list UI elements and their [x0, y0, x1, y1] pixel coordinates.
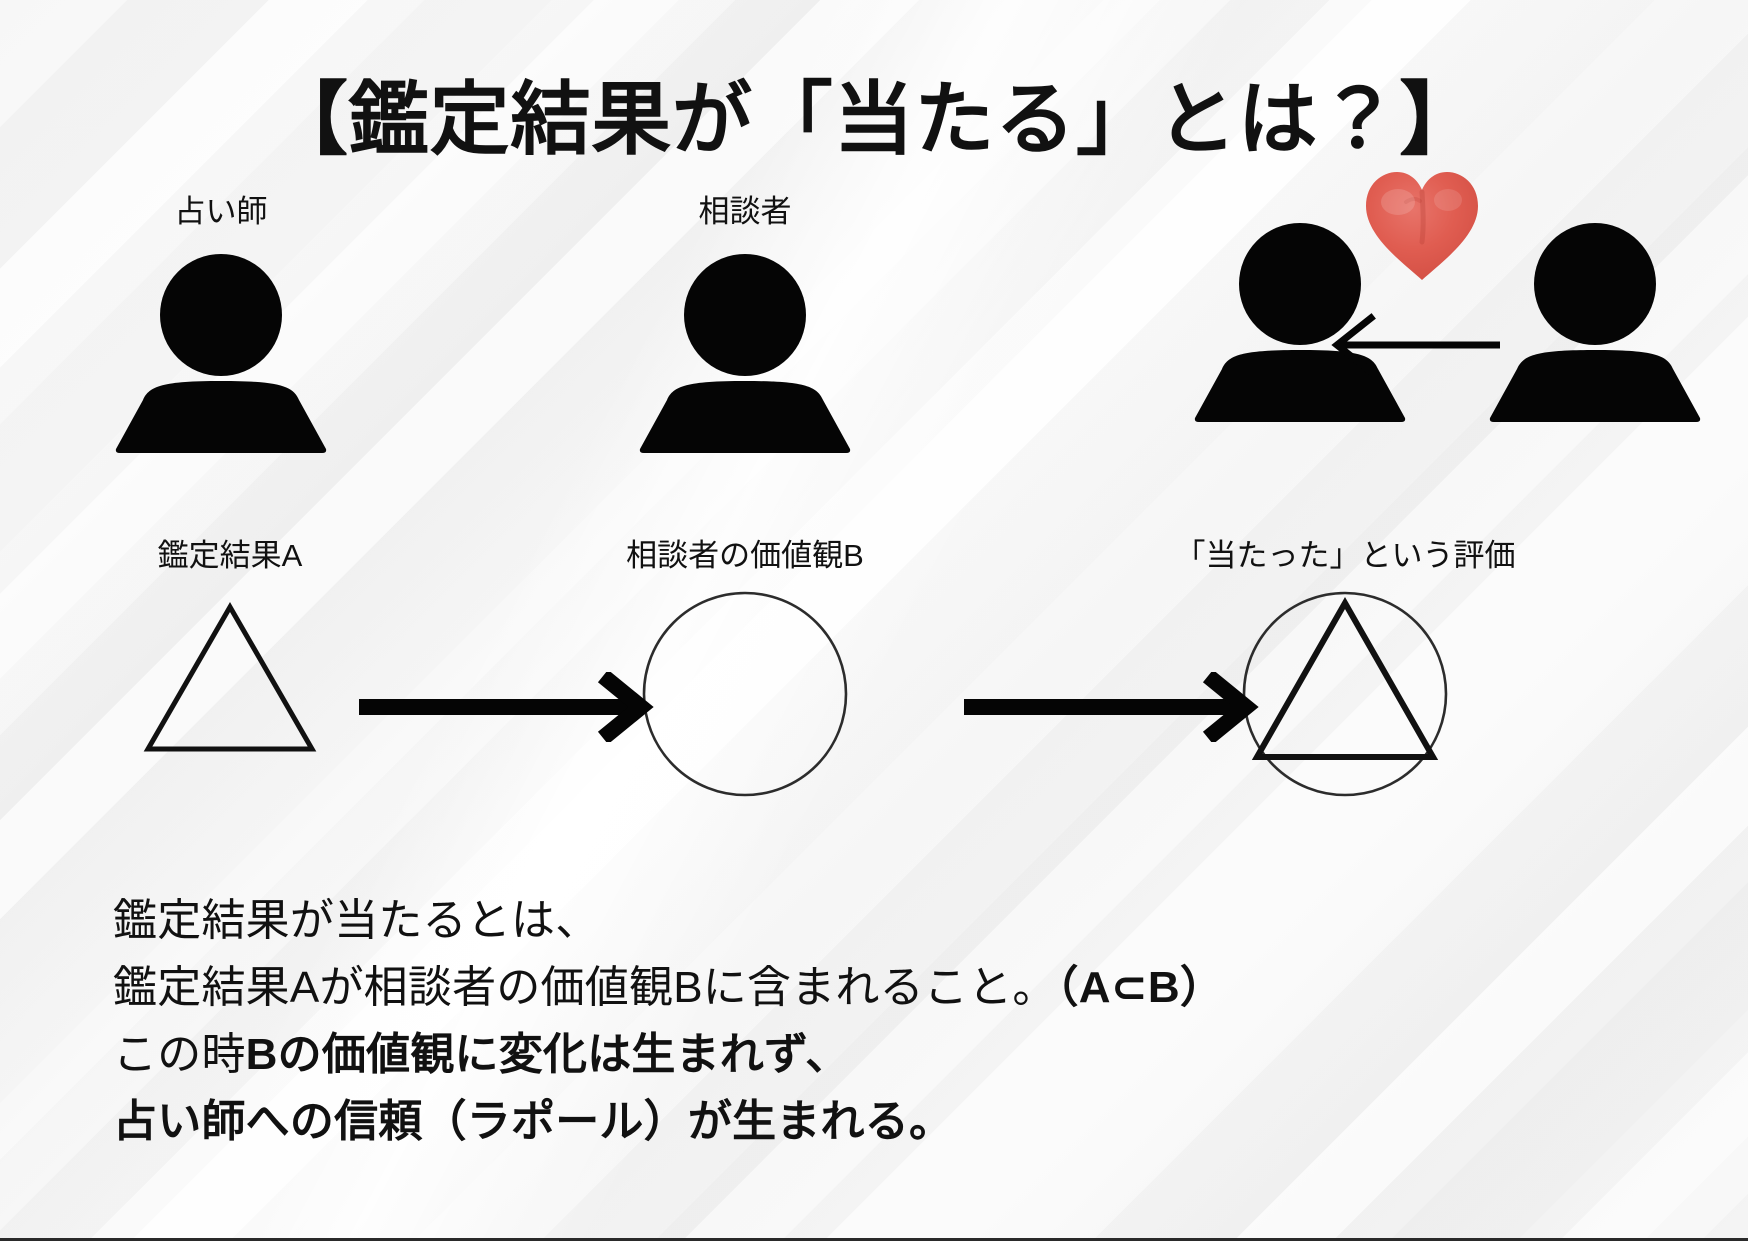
body-text-block: 鑑定結果が当たるとは、 鑑定結果Aが相談者の価値観Bに含まれること。（A⊂B） … [113, 888, 1224, 1156]
person-icon [96, 253, 346, 453]
person-group-fortune-teller: 占い師 [96, 196, 346, 453]
person-group-client: 相談者 [620, 196, 870, 453]
person-icon [1470, 222, 1720, 422]
body-line-4: 占い師への信頼（ラポール）が生まれる。 [113, 1089, 1224, 1156]
body-line-4-text: 占い師への信頼（ラポール）が生まれる。 [113, 1097, 953, 1146]
shapes-row: 鑑定結果A 相談者の価値観B 「当たった」という評価 [0, 540, 1748, 820]
body-line-3: この時Bの価値観に変化は生まれず、 [113, 1022, 1224, 1089]
triangle-outline-icon [60, 589, 400, 769]
arrow-right-icon [355, 672, 655, 742]
page-title: 【鑑定結果が「当たる」とは？】 [0, 76, 1748, 164]
body-line-1-text: 鑑定結果が当たるとは、 [113, 896, 599, 945]
body-line-2-normal: 鑑定結果Aが相談者の価値観Bに含まれること。 [113, 963, 1057, 1012]
shape-label-evaluation: 「当たった」という評価 [1145, 540, 1545, 571]
shape-label-result-a: 鑑定結果A [60, 540, 400, 571]
person-group-trust-giver [1470, 196, 1720, 422]
body-line-2: 鑑定結果Aが相談者の価値観Bに含まれること。（A⊂B） [113, 955, 1224, 1022]
arrow-right-icon [960, 672, 1260, 742]
heart-icon [1362, 168, 1482, 283]
arrow-left-icon [1325, 310, 1505, 380]
body-line-1: 鑑定結果が当たるとは、 [113, 888, 1224, 955]
shape-group-result-a: 鑑定結果A [60, 540, 400, 774]
person-label-fortune-teller: 占い師 [96, 196, 346, 227]
shape-label-values-b: 相談者の価値観B [570, 540, 920, 571]
body-line-2-bold: （A⊂B） [1057, 963, 1225, 1012]
body-line-3-normal: この時 [113, 1030, 246, 1079]
person-icon [620, 253, 870, 453]
body-line-3-bold: Bの価値観に変化は生まれず、 [246, 1030, 850, 1079]
slide-canvas: 【鑑定結果が「当たる」とは？】 占い師 相談者 [0, 0, 1748, 1241]
person-label-client: 相談者 [620, 196, 870, 227]
